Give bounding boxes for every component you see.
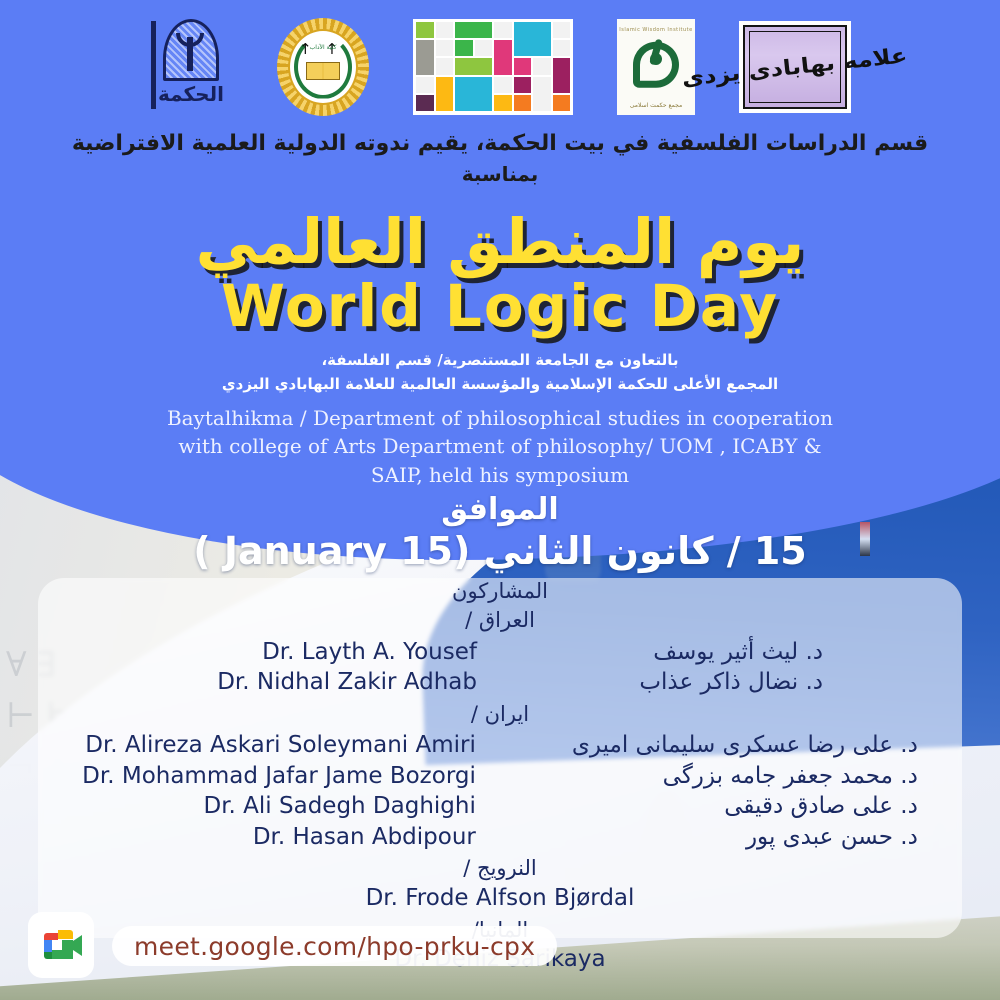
participant-name-en: Dr. Ali Sadegh Daghighi [82,791,476,822]
intro-arabic: قسم الدراسات الفلسفية في بيت الحكمة، يقي… [0,128,1000,189]
participant-name-ar: د. محمد جعفر جامه بزرگى [572,761,918,792]
names-english-iraq: Dr. Layth A. Yousef Dr. Nidhal Zakir Adh… [177,637,477,698]
cooperation-en-line-1: Baytalhikma / Department of philosophica… [120,404,880,432]
baytalhikma-logo: الحكمة [149,17,233,117]
participant-name-en: Dr. Hasan Abdipour [82,822,476,853]
intro-line-2: بمناسبة [0,160,1000,189]
name-rows-iraq: Dr. Layth A. Yousef Dr. Nidhal Zakir Adh… [38,637,962,698]
participant-name-ar: د. على صادق دقيقى [572,791,918,822]
participant-name-en: Dr. Layth A. Yousef [177,637,477,668]
names-arabic-iraq: د. ليث أثير يوسف د. نضال ذاكر عذاب [573,637,823,698]
name-rows-iran: Dr. Alireza Askari Soleymani Amiri Dr. M… [38,730,962,852]
participant-name-ar: د. على رضا عسكرى سليمانى اميرى [572,730,918,761]
mustansiriyah-college-of-arts-seal: ↑↑ كلية الآداب [277,18,369,116]
purple-logo-calligraphy: علامه بهابادى يزدى [681,43,909,91]
world-logic-day-poster: ∀ ∃⊢ ⊨¬ ∧ εδ∮ الحكمة ↑↑ كلية الآداب [0,0,1000,1000]
page-title-arabic: يوم المنطق العالمي [0,205,1000,278]
names-english-iran: Dr. Alireza Askari Soleymani Amiri Dr. M… [82,730,476,852]
participant-name-en: Dr. Alireza Askari Soleymani Amiri [82,730,476,761]
participant-name-ar: د. حسن عبدى پور [572,822,918,853]
cooperation-ar-line-1: بالتعاون مع الجامعة المستنصرية/ قسم الفل… [0,348,1000,372]
participant-name-en: Dr. Nidhal Zakir Adhab [177,667,477,698]
country-label-norway: النرويج / [38,854,962,882]
green-logo-arc-text: Islamic Wisdom Institute [617,27,695,33]
date-label: الموافق [0,492,1000,527]
baytalhikma-logo-word: الحكمة [155,79,227,109]
green-logo-subtitle: مجمع حكمت اسلامى [617,102,695,109]
cooperation-arabic: بالتعاون مع الجامعة المستنصرية/ قسم الفل… [0,348,1000,396]
country-label-iran: ايران / [38,700,962,728]
participants-list: المشاركون العراق / Dr. Layth A. Yousef D… [38,578,962,975]
page-title-english: World Logic Day [0,272,1000,340]
cooperation-en-line-2: with college of Arts Department of philo… [120,432,880,460]
participant-name-ar: د. نضال ذاكر عذاب [573,667,823,698]
names-arabic-iran: د. على رضا عسكرى سليمانى اميرى د. محمد ج… [572,730,918,852]
allamah-bahabadi-yazdi-logo: علامه بهابادى يزدى [739,21,851,113]
logo-row: الحكمة ↑↑ كلية الآداب [0,14,1000,119]
cooperation-en-line-3: SAIP, held his symposium [120,461,880,489]
participant-name-ar: د. ليث أثير يوسف [573,637,823,668]
seal-caption: كلية الآداب [310,44,337,51]
participant-name-en: Dr. Mohammad Jafar Jame Bozorgi [82,761,476,792]
country-label-iraq: العراق / [38,606,962,634]
intro-line-1: قسم الدراسات الفلسفية في بيت الحكمة، يقي… [0,128,1000,160]
cooperation-ar-line-2: المجمع الأعلى للحكمة الإسلامية والمؤسسة … [0,372,1000,396]
participants-heading: المشاركون [38,578,962,604]
google-meet-icon[interactable] [28,912,94,978]
cooperation-english: Baytalhikma / Department of philosophica… [120,404,880,489]
meet-url-pill[interactable]: meet.google.com/hpo-prku-cpx [112,926,557,966]
event-date: الموافق 15 / كانون الثاني (January 15 ) [0,492,1000,573]
date-value: 15 / كانون الثاني (January 15 ) [0,529,1000,573]
logic-blocks-logo [413,19,573,115]
participant-name-en: Dr. Frode Alfson Bjørdal [38,884,962,914]
